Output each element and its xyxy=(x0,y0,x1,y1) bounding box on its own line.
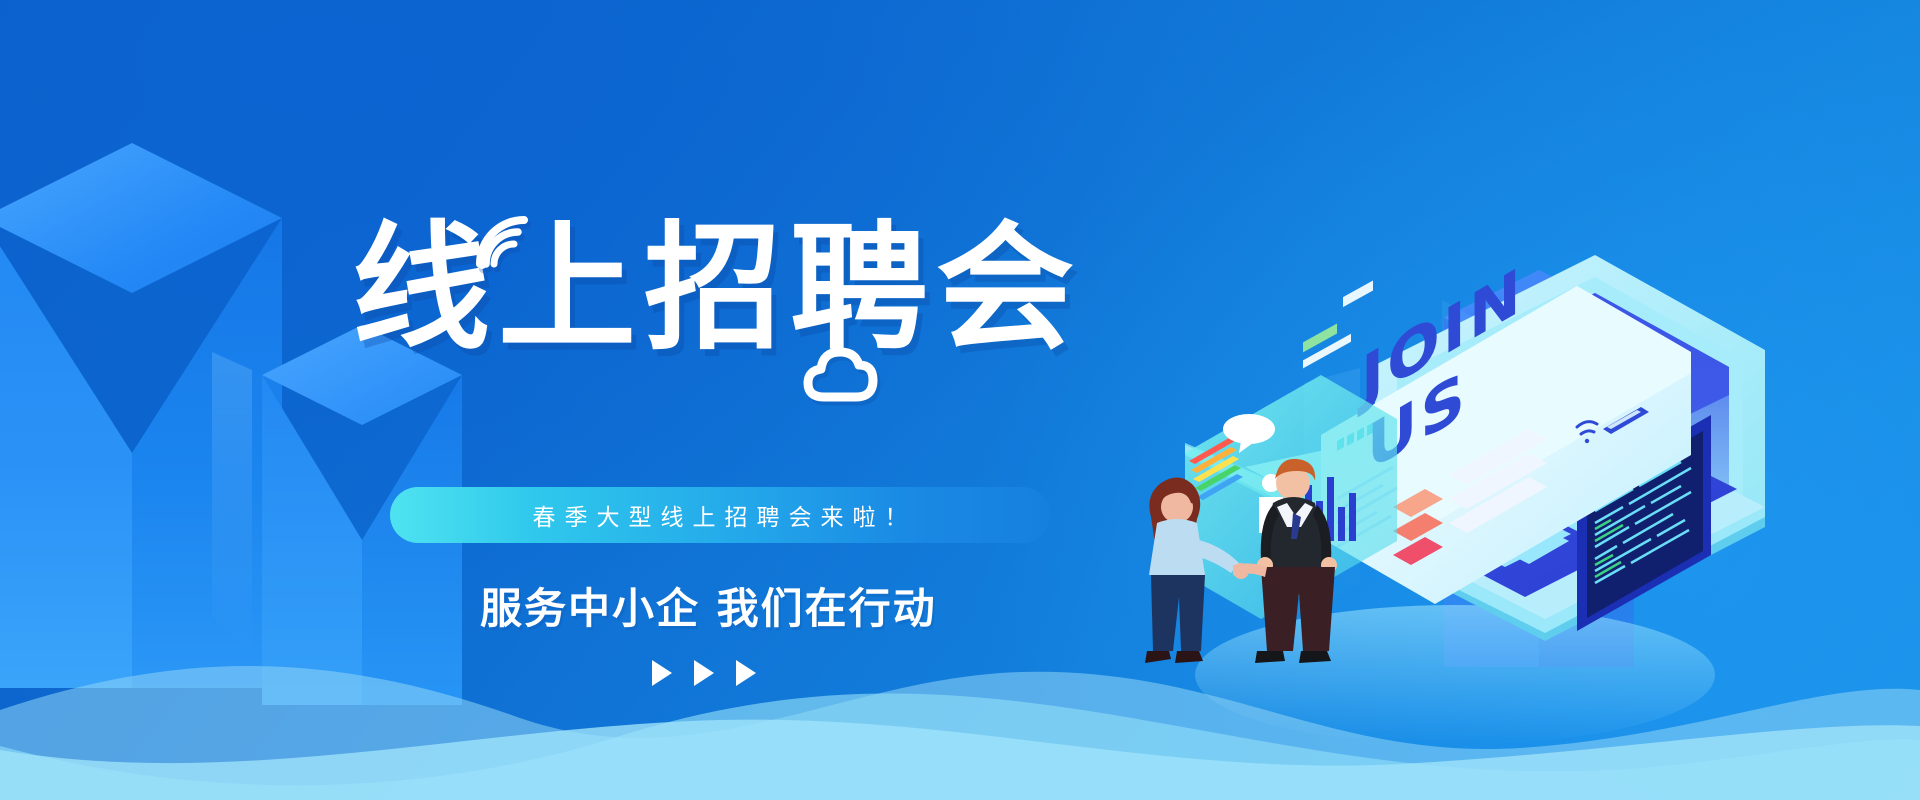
subtitle-pill: 春季大型线上招聘会来啦！ xyxy=(390,487,1050,543)
wifi-icon xyxy=(470,212,534,272)
play-triangle-icon xyxy=(736,660,756,686)
page-title: 线上招聘会 xyxy=(352,216,1082,362)
play-triangle-icon xyxy=(652,660,672,686)
iso-tower-large-left-face xyxy=(0,218,132,688)
tagline: 服务中小企 我们在行动 xyxy=(480,575,937,636)
iso-tower-large-right-face xyxy=(132,218,282,688)
play-triangle-icon xyxy=(694,660,714,686)
wave-layer-front xyxy=(0,680,1920,800)
iso-tower-large-top-face xyxy=(0,143,282,293)
recruitment-banner: JOIN US xyxy=(0,0,1920,800)
cloud-icon xyxy=(800,345,886,403)
decorative-sliver xyxy=(212,352,252,652)
subtitle-pill-text: 春季大型线上招聘会来啦！ xyxy=(524,498,917,532)
arrow-indicator-group xyxy=(652,660,756,686)
